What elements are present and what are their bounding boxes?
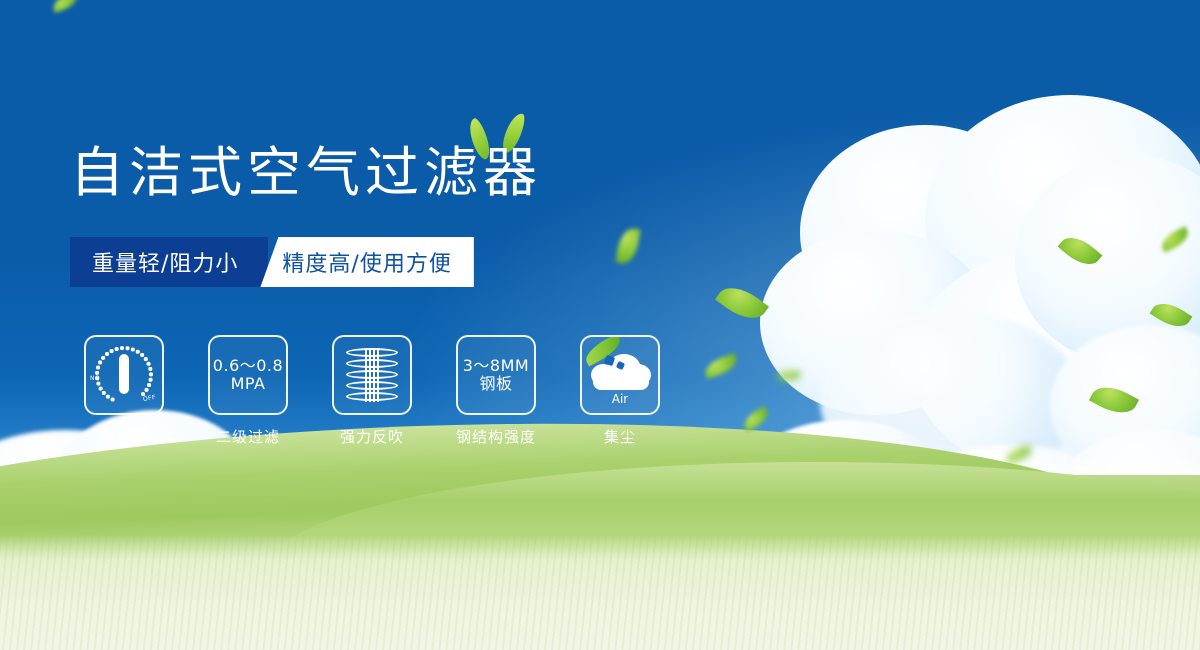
dial-tick	[136, 350, 139, 353]
tagline-secondary: 精度高/使用方便	[260, 237, 473, 287]
dial-tick	[147, 362, 150, 365]
feature-icon-box	[332, 335, 412, 415]
dial-tick	[111, 398, 114, 401]
dial-gauge-icon: NO OFF	[90, 341, 158, 409]
hero-banner: 自洁式空气过滤器 重量轻/阻力小 精度高/使用方便 NO OFF 控制仪 0.6…	[0, 0, 1200, 650]
dial-tick	[106, 395, 109, 398]
feature-icon-box: Air	[580, 335, 660, 415]
dial-tick	[140, 353, 143, 356]
feature-icon-box: 3～8MM 钢板	[456, 335, 536, 415]
feature-label: 二级过滤	[216, 426, 280, 447]
dial-tick	[97, 382, 100, 385]
air-label: Air	[587, 392, 653, 406]
cloud-air-icon: Air	[587, 348, 653, 402]
dial-tick	[126, 347, 129, 350]
dial-tick	[115, 347, 118, 350]
tagline-bar: 重量轻/阻力小 精度高/使用方便	[70, 237, 474, 287]
dial-tick	[105, 352, 108, 355]
feature-icon-box: NO OFF	[84, 335, 164, 415]
tagline-primary: 重量轻/阻力小	[70, 237, 268, 287]
dial-tick	[145, 388, 148, 391]
dial-tick	[149, 373, 152, 376]
dial-off-label: OFF	[143, 394, 157, 403]
grass-foreground	[0, 535, 1200, 650]
feature-label: 控制仪	[100, 426, 148, 447]
dial-tick	[101, 356, 104, 359]
steel-value-line1: 3～8MM	[463, 357, 529, 375]
feature-item-backblow[interactable]: 强力反吹	[324, 335, 420, 447]
dial-tick	[99, 387, 102, 390]
grass-field	[0, 475, 1200, 650]
dial-tick	[102, 391, 105, 394]
dial-on-label: NO	[90, 375, 100, 382]
steel-value-line2: 钢板	[479, 375, 512, 393]
pressure-value-line1: 0.6～0.8	[213, 357, 283, 375]
filter-coil-icon	[346, 346, 398, 404]
feature-icon-box: 0.6～0.8 MPA	[208, 335, 288, 415]
dial-tick	[120, 346, 123, 349]
dial-tick	[144, 357, 147, 360]
dial-tick	[96, 366, 99, 369]
dial-tick	[131, 348, 134, 351]
dial-tick	[110, 349, 113, 352]
feature-label: 集尘	[604, 426, 636, 447]
feature-list: NO OFF 控制仪 0.6～0.8 MPA 二级过滤	[76, 335, 668, 447]
dial-tick	[147, 383, 150, 386]
dial-tick	[149, 378, 152, 381]
feature-label: 钢结构强度	[456, 426, 536, 447]
feature-item-controller[interactable]: NO OFF 控制仪	[76, 335, 172, 447]
feature-item-pressure[interactable]: 0.6～0.8 MPA 二级过滤	[200, 335, 296, 447]
feature-item-dust[interactable]: Air 集尘	[572, 335, 668, 447]
dial-tick	[98, 361, 101, 364]
pressure-value-line2: MPA	[231, 375, 266, 393]
feature-item-steel[interactable]: 3～8MM 钢板 钢结构强度	[448, 335, 544, 447]
feature-label: 强力反吹	[340, 426, 404, 447]
dial-tick	[149, 367, 152, 370]
page-title: 自洁式空气过滤器	[70, 146, 542, 200]
